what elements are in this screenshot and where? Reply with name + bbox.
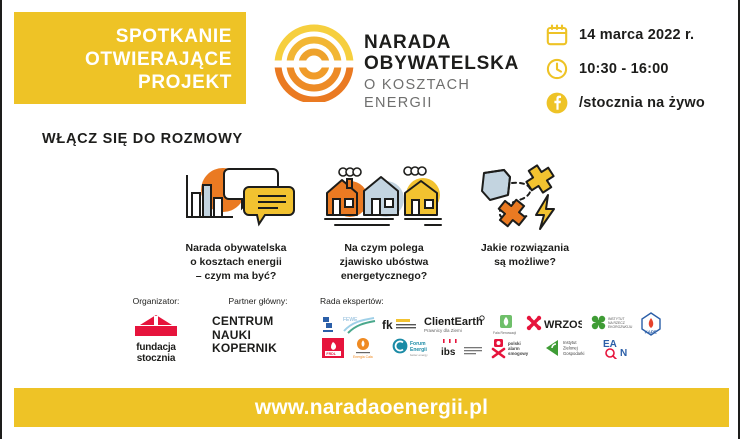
organizer-label: Organizator: xyxy=(114,296,198,306)
forum-energii-logo: Forum Energii better energy xyxy=(392,337,434,359)
chart-speech-bubbles-illustration xyxy=(162,163,310,231)
frdl-logo: FRDL xyxy=(320,337,346,359)
experts-label: Rada ekspertów: xyxy=(320,296,630,306)
konrad-adenauer-logo: fk xyxy=(382,313,418,335)
fewe-logo: FEWE xyxy=(342,313,376,335)
instytut-zielonej-gospodarki-logo: Instytut Zielonej Gospodarki xyxy=(544,337,596,359)
caption-line: Narada obywatelska xyxy=(162,241,310,255)
title-line-2: OTWIERAJĄCE xyxy=(14,48,246,71)
partner-name-line: CENTRUM xyxy=(212,315,306,329)
info-row-time: 10:30 - 16:00 xyxy=(546,54,740,83)
partner-name-line: KOPERNIK xyxy=(212,342,306,356)
caption-line: Jakie rozwiązania xyxy=(458,241,592,255)
topic-card-caption: Jakie rozwiązania są możliwe? xyxy=(458,241,592,269)
caption-line: zjawisko ubóstwa xyxy=(310,255,458,269)
calendar-icon xyxy=(546,24,568,46)
expert-logo-grid: FEWE fk xyxy=(320,312,630,360)
kape-logo: KAPE xyxy=(640,313,662,335)
topic-cards: Narada obywatelska o kosztach energii – … xyxy=(162,163,592,283)
topic-card: Jakie rozwiązania są możliwe? xyxy=(458,163,592,269)
topic-card-caption: Na czym polega zjawisko ubóstwa energety… xyxy=(310,241,458,283)
title-box: SPOTKANIE OTWIERAJĄCE PROJEKT xyxy=(14,12,246,104)
brand-line-3: O KOSZTACH ENERGII xyxy=(364,76,542,112)
svg-text:ClientEarth: ClientEarth xyxy=(424,316,483,328)
header: SPOTKANIE OTWIERAJĄCE PROJEKT xyxy=(14,12,730,112)
narada-rings-logo xyxy=(272,20,356,102)
title-line-1: SPOTKANIE xyxy=(14,12,246,48)
svg-text:better energy: better energy xyxy=(410,353,428,357)
facebook-icon[interactable] xyxy=(546,92,568,114)
brand-logo: NARADA OBYWATELSKA O KOSZTACH ENERGII xyxy=(272,18,542,106)
clock-icon xyxy=(546,58,568,80)
shield-path-bolt-illustration xyxy=(458,163,592,231)
title-line-3: PROJEKT xyxy=(14,71,246,94)
svg-text:Zielonej: Zielonej xyxy=(563,346,578,351)
facebook-handle[interactable]: /stocznia na żywo xyxy=(579,95,705,111)
event-date: 14 marca 2022 r. xyxy=(579,27,694,43)
ean-logo: EA N xyxy=(602,337,636,359)
svg-text:fk: fk xyxy=(382,318,393,332)
topic-card-caption: Narada obywatelska o kosztach energii – … xyxy=(162,241,310,283)
svg-text:Gospodarki: Gospodarki xyxy=(563,351,584,356)
poster-root: SPOTKANIE OTWIERAJĄCE PROJEKT xyxy=(0,0,740,439)
topic-card: Na czym polega zjawisko ubóstwa energety… xyxy=(310,163,458,283)
caption-line: – czym ma być? xyxy=(162,269,310,283)
fundacja-stocznia-logo xyxy=(114,314,198,340)
svg-text:KAPE: KAPE xyxy=(645,329,657,334)
experts-block: Rada ekspertów: FEWE xyxy=(320,296,630,360)
expert-logo-row: FEWE fk xyxy=(320,312,630,336)
organizer-block: Organizator: fundacja stocznia xyxy=(114,296,198,364)
info-row-date: 14 marca 2022 r. xyxy=(546,20,740,49)
topic-card: Narada obywatelska o kosztach energii – … xyxy=(162,163,310,283)
svg-text:ibs: ibs xyxy=(441,347,456,358)
svg-text:Fala Renowacji: Fala Renowacji xyxy=(493,331,516,335)
svg-text:WRZOS: WRZOS xyxy=(544,319,582,331)
caption-line: są możliwe? xyxy=(458,255,592,269)
svg-text:EKOROZWOJU: EKOROZWOJU xyxy=(608,325,633,329)
section-heading: WŁĄCZ SIĘ DO ROZMOWY xyxy=(42,131,243,147)
organizer-name-line: stocznia xyxy=(114,353,198,364)
brand-line-2: OBYWATELSKA xyxy=(364,53,542,74)
svg-text:FRDL: FRDL xyxy=(326,352,336,356)
svg-text:N: N xyxy=(620,348,627,359)
footer-bar: www.naradaoenergii.pl xyxy=(14,388,729,427)
svg-text:smogowy: smogowy xyxy=(508,351,529,356)
energia-cala-logo: Energia Cała xyxy=(352,337,386,359)
event-time: 10:30 - 16:00 xyxy=(579,61,669,77)
caption-line: o kosztach energii xyxy=(162,255,310,269)
svg-text:Instytut: Instytut xyxy=(563,340,577,345)
partner-name-line: NAUKI xyxy=(212,329,306,343)
main-partner-block: Partner główny: CENTRUM NAUKI KOPERNIK xyxy=(210,296,306,356)
website-url[interactable]: www.naradaoenergii.pl xyxy=(255,396,488,420)
kopernik-logo: CENTRUM NAUKI KOPERNIK xyxy=(210,315,306,356)
houses-smoke-illustration xyxy=(310,163,458,231)
organizer-name: fundacja stocznia xyxy=(114,342,198,364)
bgk-logo xyxy=(320,313,336,335)
caption-line: Na czym polega xyxy=(310,241,458,255)
instytut-ekorozwoju-logo: INSTYTUT NA RZECZ EKOROZWOJU xyxy=(588,313,634,335)
main-partner-label: Partner główny: xyxy=(210,296,306,306)
organizer-name-line: fundacja xyxy=(114,342,198,353)
partners-section: Organizator: fundacja stocznia Partner g… xyxy=(2,296,740,382)
ibs-logo: ibs xyxy=(440,337,484,359)
wrzos-logo: WRZOS xyxy=(526,313,582,335)
fala-renowacji-logo: Fala Renowacji xyxy=(492,313,520,335)
polski-alarm-smogowy-logo: polski alarm smogowy xyxy=(490,337,538,359)
event-info: 14 marca 2022 r. 10:30 - 16:00 xyxy=(546,20,740,122)
brand-line-1: NARADA xyxy=(364,32,542,53)
clientearth-logo: ClientEarth Prawnicy dla Ziemi xyxy=(424,313,486,335)
svg-text:Energia Cała: Energia Cała xyxy=(353,355,373,359)
brand-text: NARADA OBYWATELSKA O KOSZTACH ENERGII xyxy=(364,32,542,112)
caption-line: energetycznego? xyxy=(310,269,458,283)
svg-text:Prawnicy dla Ziemi: Prawnicy dla Ziemi xyxy=(424,328,462,333)
expert-logo-row: FRDL Energia Cała xyxy=(320,336,630,360)
info-row-facebook[interactable]: /stocznia na żywo xyxy=(546,88,740,117)
